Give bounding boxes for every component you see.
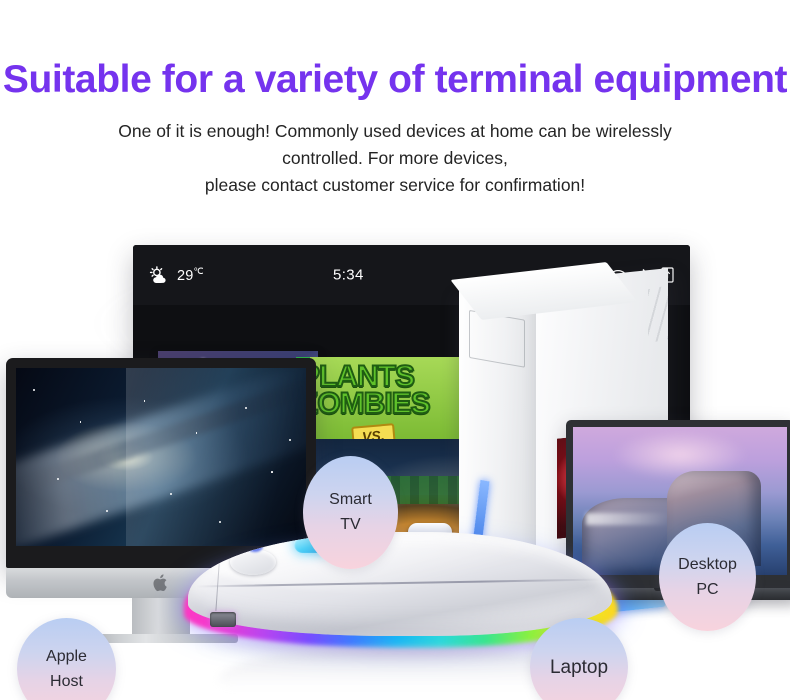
mouse-scroll-wheel[interactable] (230, 549, 276, 575)
tv-clock: 5:34 (333, 267, 364, 284)
callout-smart-tv[interactable]: Smart TV (303, 456, 398, 569)
tower-panel-seam (469, 310, 525, 368)
subtitle-line-3: please contact customer service for conf… (0, 172, 790, 199)
page-subtitle: One of it is enough! Commonly used devic… (0, 118, 790, 199)
page-title: Suitable for a variety of terminal equip… (0, 58, 790, 102)
sun-behind-cloud-icon (149, 265, 170, 286)
callout-apple-host-line1: Apple (46, 649, 87, 665)
callout-desktop-pc-line2: PC (696, 582, 718, 598)
tv-weather-widget: 29℃ (149, 265, 204, 286)
mouse-charging-port (210, 612, 236, 627)
subtitle-line-1: One of it is enough! Commonly used devic… (0, 118, 790, 145)
tower-vent (648, 268, 668, 343)
tv-temperature: 29℃ (177, 266, 204, 284)
device-stage: 29℃ 5:34 (0, 215, 790, 700)
callout-laptop-line1: Laptop (550, 658, 608, 677)
callout-apple-host-line2: Host (50, 674, 83, 690)
callout-desktop-pc[interactable]: Desktop PC (659, 523, 756, 631)
callout-smart-tv-line2: TV (340, 517, 360, 533)
apple-logo-icon (153, 573, 170, 593)
callout-desktop-pc-line1: Desktop (678, 557, 737, 573)
product-feature-poster: Suitable for a variety of terminal equip… (0, 0, 790, 700)
mouse-body (188, 532, 612, 636)
subtitle-line-2: controlled. For more devices, (0, 145, 790, 172)
callout-smart-tv-line1: Smart (329, 492, 372, 508)
